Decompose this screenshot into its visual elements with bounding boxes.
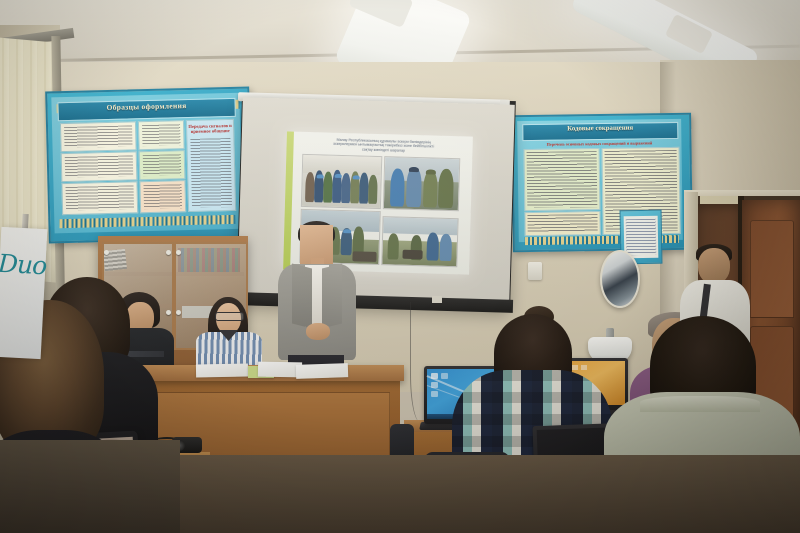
slide-photo-bottom-right xyxy=(381,216,458,267)
photo-blue-beret xyxy=(353,175,360,179)
bookcase-knob[interactable] xyxy=(104,250,109,255)
photo-figure xyxy=(390,168,405,206)
photo-figure xyxy=(387,234,399,260)
poster-right-titlebar: Кодовые сокращения xyxy=(522,122,678,141)
presenter-hands xyxy=(306,323,330,340)
photo-blue-beret xyxy=(335,174,342,178)
poster-card xyxy=(139,180,186,213)
poster-right-title: Кодовые сокращения xyxy=(523,124,677,133)
wall-poster-right: Кодовые сокращения Перечень основных код… xyxy=(511,113,693,252)
poster-card-lines xyxy=(143,184,182,209)
bookcase-knob[interactable] xyxy=(166,310,171,315)
desk-papers[interactable] xyxy=(196,364,248,378)
desktop-icon[interactable] xyxy=(431,391,438,397)
desktop-icon[interactable] xyxy=(572,365,578,370)
slide-photo-top-left xyxy=(301,154,382,209)
poster-column-lines xyxy=(527,214,597,233)
photo-equipment xyxy=(352,251,376,262)
poster-column xyxy=(524,148,601,211)
bookcase-knob[interactable] xyxy=(176,310,181,315)
photo-figure xyxy=(406,167,422,207)
poster-left-title: Образцы оформления xyxy=(58,100,234,113)
poster-column-lines xyxy=(527,151,598,208)
presenter-lapel xyxy=(322,264,342,329)
photo-cap xyxy=(409,167,419,172)
photo-blue-beret xyxy=(343,229,351,233)
bookcase-knob[interactable] xyxy=(176,250,181,255)
desktop-icon[interactable] xyxy=(441,373,448,379)
wall-outlet[interactable] xyxy=(528,262,542,280)
slide-title: Малау Республикасының құрамалы әскери бө… xyxy=(300,137,466,155)
roll-up-banner xyxy=(0,227,47,359)
poster-card-lines xyxy=(66,185,135,211)
poster-column xyxy=(524,211,600,236)
wall-poster-left: Образцы оформления Передача сигналов и п… xyxy=(45,87,253,244)
poster-card-lines xyxy=(142,124,181,146)
classroom-photo: Образцы оформления Передача сигналов и п… xyxy=(0,0,800,533)
notice-board-lines xyxy=(626,219,657,256)
poster-card-lines xyxy=(65,155,133,178)
photo-blue-beret xyxy=(317,174,324,178)
banner-text: Duo xyxy=(0,251,45,279)
doorway-man-head xyxy=(698,248,730,284)
poster-card xyxy=(139,150,186,180)
poster-card xyxy=(61,181,138,215)
poster-card xyxy=(138,120,185,150)
photo-figure xyxy=(423,170,438,207)
slide-photo-top-right xyxy=(383,156,460,211)
photo-figure xyxy=(426,233,439,261)
photo-figure xyxy=(368,175,378,204)
photo-equipment xyxy=(402,250,422,260)
floor-left xyxy=(0,440,180,533)
khaki-man-collar xyxy=(640,396,760,412)
desk-papers[interactable] xyxy=(296,363,348,379)
wall-mirror xyxy=(600,250,640,308)
door-panel xyxy=(750,220,794,318)
poster-card-lines xyxy=(143,154,182,176)
poster-left-body: Передача сигналов и приемное общение xyxy=(58,119,236,215)
photo-wall xyxy=(303,155,381,175)
poster-card xyxy=(60,121,137,152)
photo-figure xyxy=(439,234,452,261)
poster-card-lines xyxy=(64,125,132,148)
poster-side-lines xyxy=(190,138,232,208)
photo-cap xyxy=(426,169,436,174)
bookcase-knob[interactable] xyxy=(166,250,171,255)
desktop-icon[interactable] xyxy=(581,365,587,370)
presenter-lapel xyxy=(292,264,312,329)
poster-card xyxy=(61,151,138,182)
photo-figure xyxy=(438,169,454,208)
poster-left-section-heading: Передача сигналов и приемное общение xyxy=(187,123,233,134)
glasses-icon xyxy=(215,312,244,321)
poster-side-panel: Передача сигналов и приемное общение xyxy=(186,119,236,212)
